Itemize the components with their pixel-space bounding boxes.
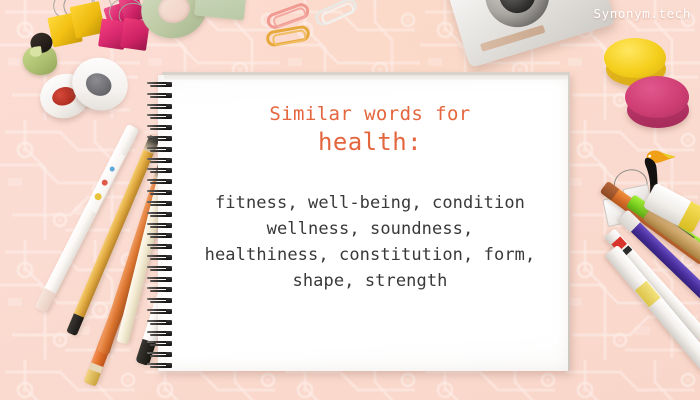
spiral-ring bbox=[147, 266, 174, 271]
synonym-line: healthiness, constitution, form, bbox=[186, 242, 554, 268]
spiral-ring bbox=[147, 298, 174, 303]
spiral-ring bbox=[147, 136, 174, 141]
page-content: Similar words for health: fitness, well-… bbox=[186, 101, 554, 294]
notepad-page: Similar words for health: fitness, well-… bbox=[158, 75, 568, 371]
spiral-ring bbox=[147, 125, 174, 130]
spiral-ring bbox=[147, 190, 174, 195]
paperclip-white-icon bbox=[313, 0, 360, 28]
synonym-line: shape, strength bbox=[186, 268, 554, 294]
query-word: health: bbox=[186, 127, 554, 157]
spiral-ring bbox=[147, 233, 174, 238]
synonym-line: wellness, soundness, bbox=[186, 216, 554, 242]
similar-words-label: Similar words for bbox=[186, 101, 554, 127]
spiral-ring bbox=[147, 168, 174, 173]
spiral-ring bbox=[147, 93, 174, 98]
spiral-ring bbox=[147, 158, 174, 163]
spiral-ring bbox=[147, 309, 174, 314]
camera-icon bbox=[440, 0, 616, 68]
spiral-ring bbox=[147, 82, 174, 87]
synonym-line: fitness, well-being, condition bbox=[186, 190, 554, 216]
spiral-ring bbox=[147, 363, 174, 368]
spiral-ring bbox=[147, 104, 174, 109]
desk-scene: Similar words for health: fitness, well-… bbox=[0, 0, 700, 400]
spiral-ring bbox=[147, 320, 174, 325]
spiral-ring bbox=[147, 147, 174, 152]
spiral-ring bbox=[147, 255, 174, 260]
spiral-ring bbox=[147, 277, 174, 282]
synonyms-list: fitness, well-being, condition wellness,… bbox=[186, 190, 554, 294]
spiral-ring bbox=[147, 201, 174, 206]
spiral-ring bbox=[147, 331, 174, 336]
spiral-ring bbox=[147, 352, 174, 357]
notepad: Similar words for health: fitness, well-… bbox=[158, 72, 570, 373]
spiral-ring bbox=[147, 179, 174, 184]
spiral-ring bbox=[147, 223, 174, 228]
spiral-ring bbox=[147, 212, 174, 217]
spiral-ring bbox=[147, 287, 174, 292]
page-top-edge bbox=[164, 75, 568, 80]
macaron-pink-icon bbox=[625, 76, 691, 134]
brand-logo: Synonym.tech bbox=[593, 6, 691, 21]
spiral-binding bbox=[147, 82, 177, 368]
spiral-ring bbox=[147, 114, 174, 119]
bird-eraser-green-icon bbox=[17, 30, 64, 77]
spiral-ring bbox=[147, 244, 174, 249]
spiral-ring bbox=[147, 341, 174, 346]
